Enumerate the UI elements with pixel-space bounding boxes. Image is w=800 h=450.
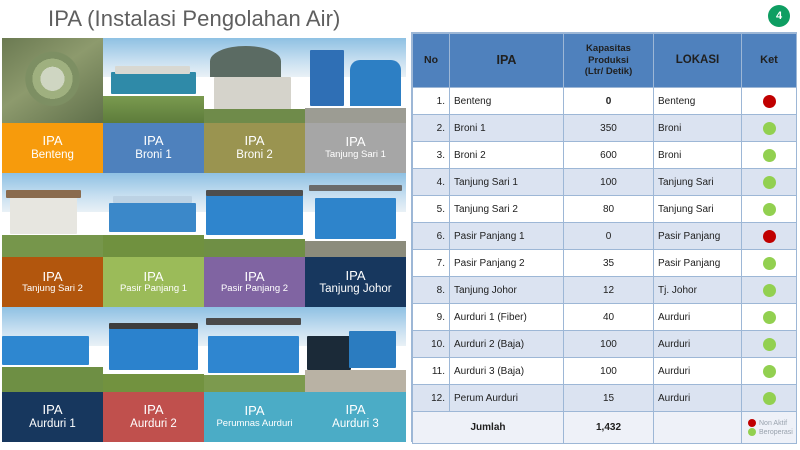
caption-prefix: IPA [245,404,265,419]
status-badge [742,250,797,277]
total-value: 1,432 [564,412,654,444]
status-legend: Non AktifBeroperasi [742,412,797,444]
cell-no: 11. [413,358,450,385]
caption-name: Perumnas Aurduri [216,419,292,430]
photo-thumbnail [103,307,204,392]
total-blank-cell [654,412,742,444]
photo-caption: IPAAurduri 2 [103,392,204,442]
photo-thumbnail [2,307,103,392]
ipa-table: No IPA Kapasitas Produksi (Ltr/ Detik) L… [412,33,797,444]
total-label: Jumlah [413,412,564,444]
cell-lokasi: Aurduri [654,358,742,385]
slide-number-badge: 4 [768,5,790,27]
photo-cell-tanjung-sari-2[interactable]: IPATanjung Sari 2 [2,173,103,308]
cell-ipa-name: Broni 1 [450,115,564,142]
caption-name: Aurduri 3 [332,418,379,431]
status-badge [742,277,797,304]
slide-canvas: 4 IPA (Instalasi Pengolahan Air) IPABent… [0,0,800,450]
cell-lokasi: Pasir Panjang [654,250,742,277]
cell-no: 8. [413,277,450,304]
caption-prefix: IPA [144,270,164,285]
status-badge [742,169,797,196]
table-row[interactable]: 8.Tanjung Johor12Tj. Johor [413,277,797,304]
ipa-table-container: No IPA Kapasitas Produksi (Ltr/ Detik) L… [411,32,797,442]
cell-lokasi: Benteng [654,88,742,115]
table-row[interactable]: 9.Aurduri 1 (Fiber)40Aurduri [413,304,797,331]
caption-prefix: IPA [346,135,366,150]
cell-no: 6. [413,223,450,250]
table-row[interactable]: 2.Broni 1350Broni [413,115,797,142]
cell-kapasitas: 12 [564,277,654,304]
cell-kapasitas: 350 [564,115,654,142]
caption-prefix: IPA [43,270,63,285]
photo-caption: IPAPasir Panjang 2 [204,257,305,307]
photo-thumbnail [204,307,305,392]
photo-thumbnail [305,173,406,258]
photo-thumbnail [305,307,406,392]
caption-prefix: IPA [144,403,164,418]
photo-cell-pasir-panjang-1[interactable]: IPAPasir Panjang 1 [103,173,204,308]
photo-cell-pasir-panjang-2[interactable]: IPAPasir Panjang 2 [204,173,305,308]
status-badge [742,385,797,412]
photo-thumbnail [103,38,204,123]
caption-name: Broni 1 [135,149,171,162]
cell-ipa-name: Aurduri 1 (Fiber) [450,304,564,331]
status-dot-nonaktif-icon [763,230,776,243]
photo-caption: IPAPasir Panjang 1 [103,257,204,307]
table-row[interactable]: 5.Tanjung Sari 280Tanjung Sari [413,196,797,223]
caption-prefix: IPA [346,269,366,284]
status-badge [742,223,797,250]
photo-caption: IPATanjung Johor [305,257,406,307]
table-body: 1.Benteng0Benteng2.Broni 1350Broni3.Bron… [413,88,797,412]
cell-ipa-name: Pasir Panjang 1 [450,223,564,250]
cell-no: 7. [413,250,450,277]
status-dot-beroperasi-icon [763,176,776,189]
table-row[interactable]: 10.Aurduri 2 (Baja)100Aurduri [413,331,797,358]
table-row[interactable]: 7.Pasir Panjang 235Pasir Panjang [413,250,797,277]
status-dot-beroperasi-icon [763,203,776,216]
cell-no: 9. [413,304,450,331]
cell-no: 1. [413,88,450,115]
legend-item: Beroperasi [748,428,793,436]
photo-cell-aurduri-1[interactable]: IPAAurduri 1 [2,307,103,442]
legend-label: Beroperasi [759,429,793,436]
photo-caption: IPABenteng [2,123,103,173]
column-header-no: No [413,34,450,88]
cell-lokasi: Broni [654,142,742,169]
column-header-ipa: IPA [450,34,564,88]
cell-ipa-name: Pasir Panjang 2 [450,250,564,277]
photo-cell-benteng[interactable]: IPABenteng [2,38,103,173]
legend-dot-beroperasi-icon [748,428,756,436]
cell-ipa-name: Broni 2 [450,142,564,169]
caption-name: Aurduri 2 [130,418,177,431]
table-row[interactable]: 11.Aurduri 3 (Baja)100Aurduri [413,358,797,385]
status-dot-beroperasi-icon [763,149,776,162]
column-header-kapasitas: Kapasitas Produksi (Ltr/ Detik) [564,34,654,88]
page-title: IPA (Instalasi Pengolahan Air) [48,6,340,32]
cell-kapasitas: 100 [564,331,654,358]
photo-caption: IPAAurduri 3 [305,392,406,442]
table-row[interactable]: 3.Broni 2600Broni [413,142,797,169]
caption-name: Pasir Panjang 2 [221,284,288,295]
cell-ipa-name: Perum Aurduri [450,385,564,412]
photo-caption: IPATanjung Sari 1 [305,123,406,173]
status-badge [742,358,797,385]
caption-name: Benteng [31,149,74,162]
cell-lokasi: Broni [654,115,742,142]
kapasitas-line-3: (Ltr/ Detik) [568,66,649,78]
cell-no: 10. [413,331,450,358]
legend-label: Non Aktif [759,420,787,427]
photo-grid: IPABentengIPABroni 1IPABroni 2IPATanjung… [2,38,406,442]
legend-item: Non Aktif [748,419,787,427]
cell-no: 5. [413,196,450,223]
caption-name: Pasir Panjang 1 [120,284,187,295]
status-dot-beroperasi-icon [763,365,776,378]
column-header-ket: Ket [742,34,797,88]
photo-thumbnail [204,38,305,123]
photo-caption: IPAAurduri 1 [2,392,103,442]
photo-cell-tanjung-sari-1[interactable]: IPATanjung Sari 1 [305,38,406,173]
status-badge [742,88,797,115]
status-dot-beroperasi-icon [763,284,776,297]
legend-holder: Non AktifBeroperasi [746,419,792,436]
cell-ipa-name: Aurduri 3 (Baja) [450,358,564,385]
status-dot-beroperasi-icon [763,122,776,135]
photo-caption: IPABroni 1 [103,123,204,173]
cell-lokasi: Tj. Johor [654,277,742,304]
cell-ipa-name: Aurduri 2 (Baja) [450,331,564,358]
cell-kapasitas: 0 [564,223,654,250]
caption-name: Tanjung Sari 1 [325,150,386,161]
caption-prefix: IPA [43,134,63,149]
photo-cell-aurduri-2[interactable]: IPAAurduri 2 [103,307,204,442]
kapasitas-line-1: Kapasitas [568,43,649,55]
cell-kapasitas: 80 [564,196,654,223]
photo-thumbnail [305,38,406,123]
cell-ipa-name: Tanjung Johor [450,277,564,304]
status-dot-beroperasi-icon [763,392,776,405]
status-dot-beroperasi-icon [763,311,776,324]
photo-caption: IPATanjung Sari 2 [2,257,103,307]
table-row[interactable]: 4.Tanjung Sari 1100Tanjung Sari [413,169,797,196]
status-badge [742,304,797,331]
status-dot-beroperasi-icon [763,338,776,351]
photo-caption: IPAPerumnas Aurduri [204,392,305,442]
cell-kapasitas: 100 [564,358,654,385]
caption-prefix: IPA [346,403,366,418]
cell-lokasi: Tanjung Sari [654,169,742,196]
cell-kapasitas: 35 [564,250,654,277]
table-row[interactable]: 1.Benteng0Benteng [413,88,797,115]
status-badge [742,196,797,223]
photo-cell-tanjung-johor[interactable]: IPATanjung Johor [305,173,406,308]
status-badge [742,331,797,358]
cell-lokasi: Aurduri [654,331,742,358]
photo-cell-broni-1[interactable]: IPABroni 1 [103,38,204,173]
cell-no: 3. [413,142,450,169]
photo-thumbnail [2,38,103,123]
total-row: Jumlah 1,432 Non AktifBeroperasi [413,412,797,444]
caption-name: Tanjung Johor [319,283,391,296]
status-dot-beroperasi-icon [763,257,776,270]
cell-no: 12. [413,385,450,412]
photo-thumbnail [204,173,305,258]
photo-cell-aurduri-3[interactable]: IPAAurduri 3 [305,307,406,442]
table-header: No IPA Kapasitas Produksi (Ltr/ Detik) L… [413,34,797,88]
cell-kapasitas: 600 [564,142,654,169]
status-badge [742,142,797,169]
cell-no: 2. [413,115,450,142]
legend-dot-nonaktif-icon [748,419,756,427]
cell-lokasi: Pasir Panjang [654,223,742,250]
table-footer: Jumlah 1,432 Non AktifBeroperasi [413,412,797,444]
caption-name: Tanjung Sari 2 [22,284,83,295]
status-dot-nonaktif-icon [763,95,776,108]
photo-cell-perumnas-aurduri[interactable]: IPAPerumnas Aurduri [204,307,305,442]
cell-ipa-name: Benteng [450,88,564,115]
cell-kapasitas: 15 [564,385,654,412]
table-row[interactable]: 12.Perum Aurduri15Aurduri [413,385,797,412]
cell-lokasi: Tanjung Sari [654,196,742,223]
status-badge [742,115,797,142]
cell-lokasi: Aurduri [654,304,742,331]
cell-no: 4. [413,169,450,196]
cell-ipa-name: Tanjung Sari 1 [450,169,564,196]
cell-ipa-name: Tanjung Sari 2 [450,196,564,223]
caption-name: Broni 2 [236,149,272,162]
kapasitas-line-2: Produksi [568,55,649,67]
cell-kapasitas: 100 [564,169,654,196]
cell-lokasi: Aurduri [654,385,742,412]
caption-prefix: IPA [43,403,63,418]
table-row[interactable]: 6.Pasir Panjang 10Pasir Panjang [413,223,797,250]
cell-kapasitas: 40 [564,304,654,331]
caption-prefix: IPA [245,270,265,285]
caption-prefix: IPA [144,134,164,149]
cell-kapasitas: 0 [564,88,654,115]
photo-cell-broni-2[interactable]: IPABroni 2 [204,38,305,173]
caption-name: Aurduri 1 [29,418,76,431]
photo-thumbnail [103,173,204,258]
caption-prefix: IPA [245,134,265,149]
table-header-row: No IPA Kapasitas Produksi (Ltr/ Detik) L… [413,34,797,88]
photo-caption: IPABroni 2 [204,123,305,173]
photo-thumbnail [2,173,103,258]
column-header-lokasi: LOKASI [654,34,742,88]
